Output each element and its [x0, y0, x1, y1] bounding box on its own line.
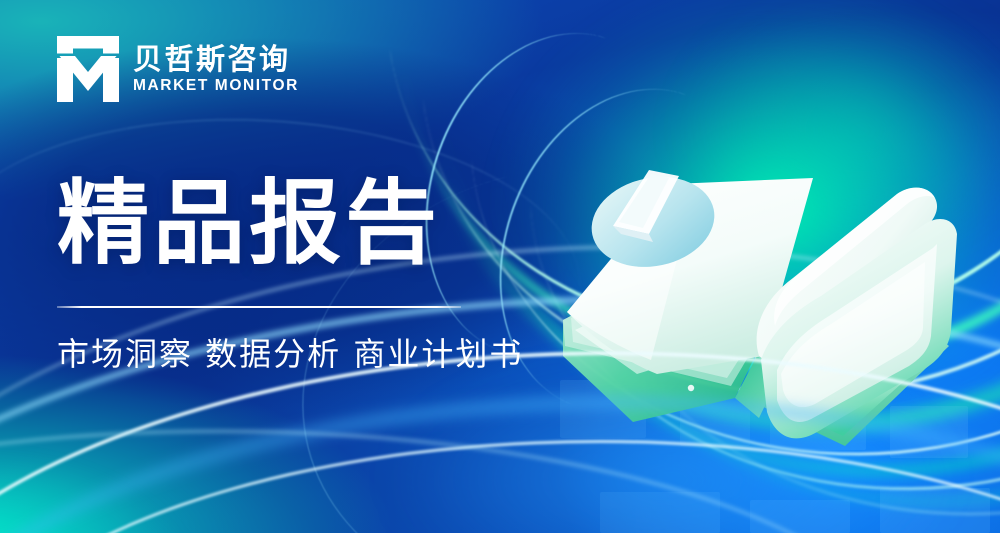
- market-monitor-m-mark-icon: [57, 36, 119, 102]
- promo-banner: 贝哲斯咨询 MARKET MONITOR 精品报告 市场洞察 数据分析 商业计划…: [0, 0, 1000, 533]
- brand-name-cn: 贝哲斯咨询: [133, 44, 299, 74]
- brand-logo[interactable]: 贝哲斯咨询 MARKET MONITOR: [57, 36, 299, 102]
- banner-headline: 精品报告: [57, 178, 441, 270]
- banner-subheadline: 市场洞察 数据分析 商业计划书: [57, 334, 523, 374]
- brand-name-en: MARKET MONITOR: [133, 78, 299, 94]
- brand-logo-text: 贝哲斯咨询 MARKET MONITOR: [133, 44, 299, 94]
- headline-divider: [57, 306, 461, 308]
